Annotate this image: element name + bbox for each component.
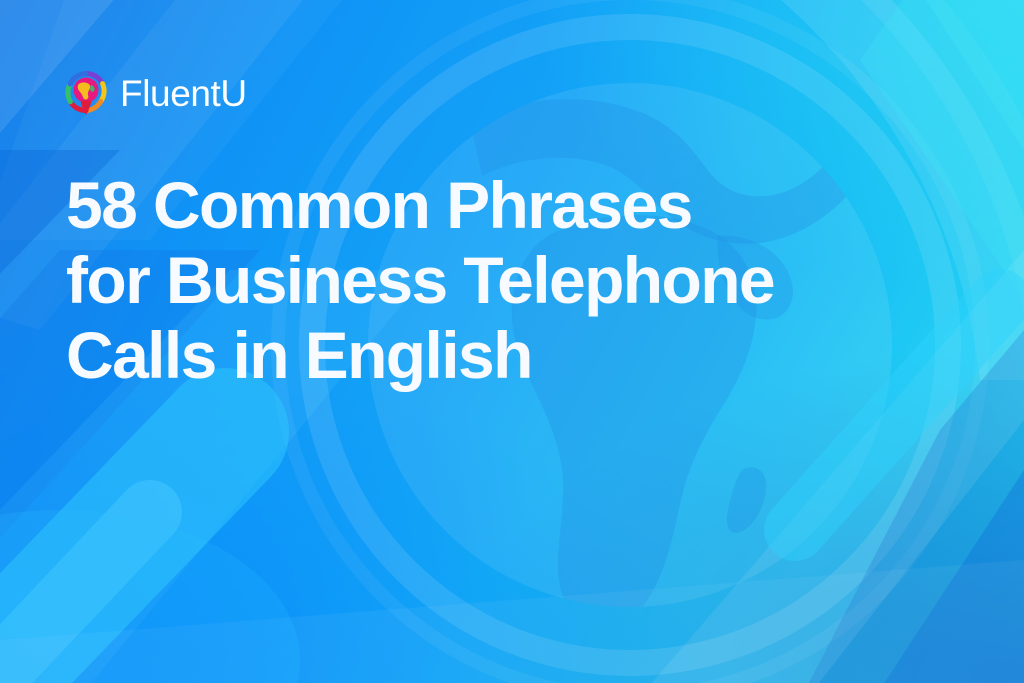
headline-line-3: Calls in English bbox=[66, 318, 966, 393]
fluentu-globe-logo-icon bbox=[64, 70, 108, 116]
headline-line-1: 58 Common Phrases bbox=[66, 168, 966, 243]
brand-logo[interactable]: FluentU bbox=[64, 70, 247, 116]
banner-card: FluentU 58 Common Phrases for Business T… bbox=[0, 0, 1024, 683]
brand-wordmark: FluentU bbox=[120, 75, 247, 112]
headline: 58 Common Phrases for Business Telephone… bbox=[66, 168, 966, 393]
bottom-left-glow bbox=[0, 510, 300, 683]
headline-line-2: for Business Telephone bbox=[66, 243, 966, 318]
